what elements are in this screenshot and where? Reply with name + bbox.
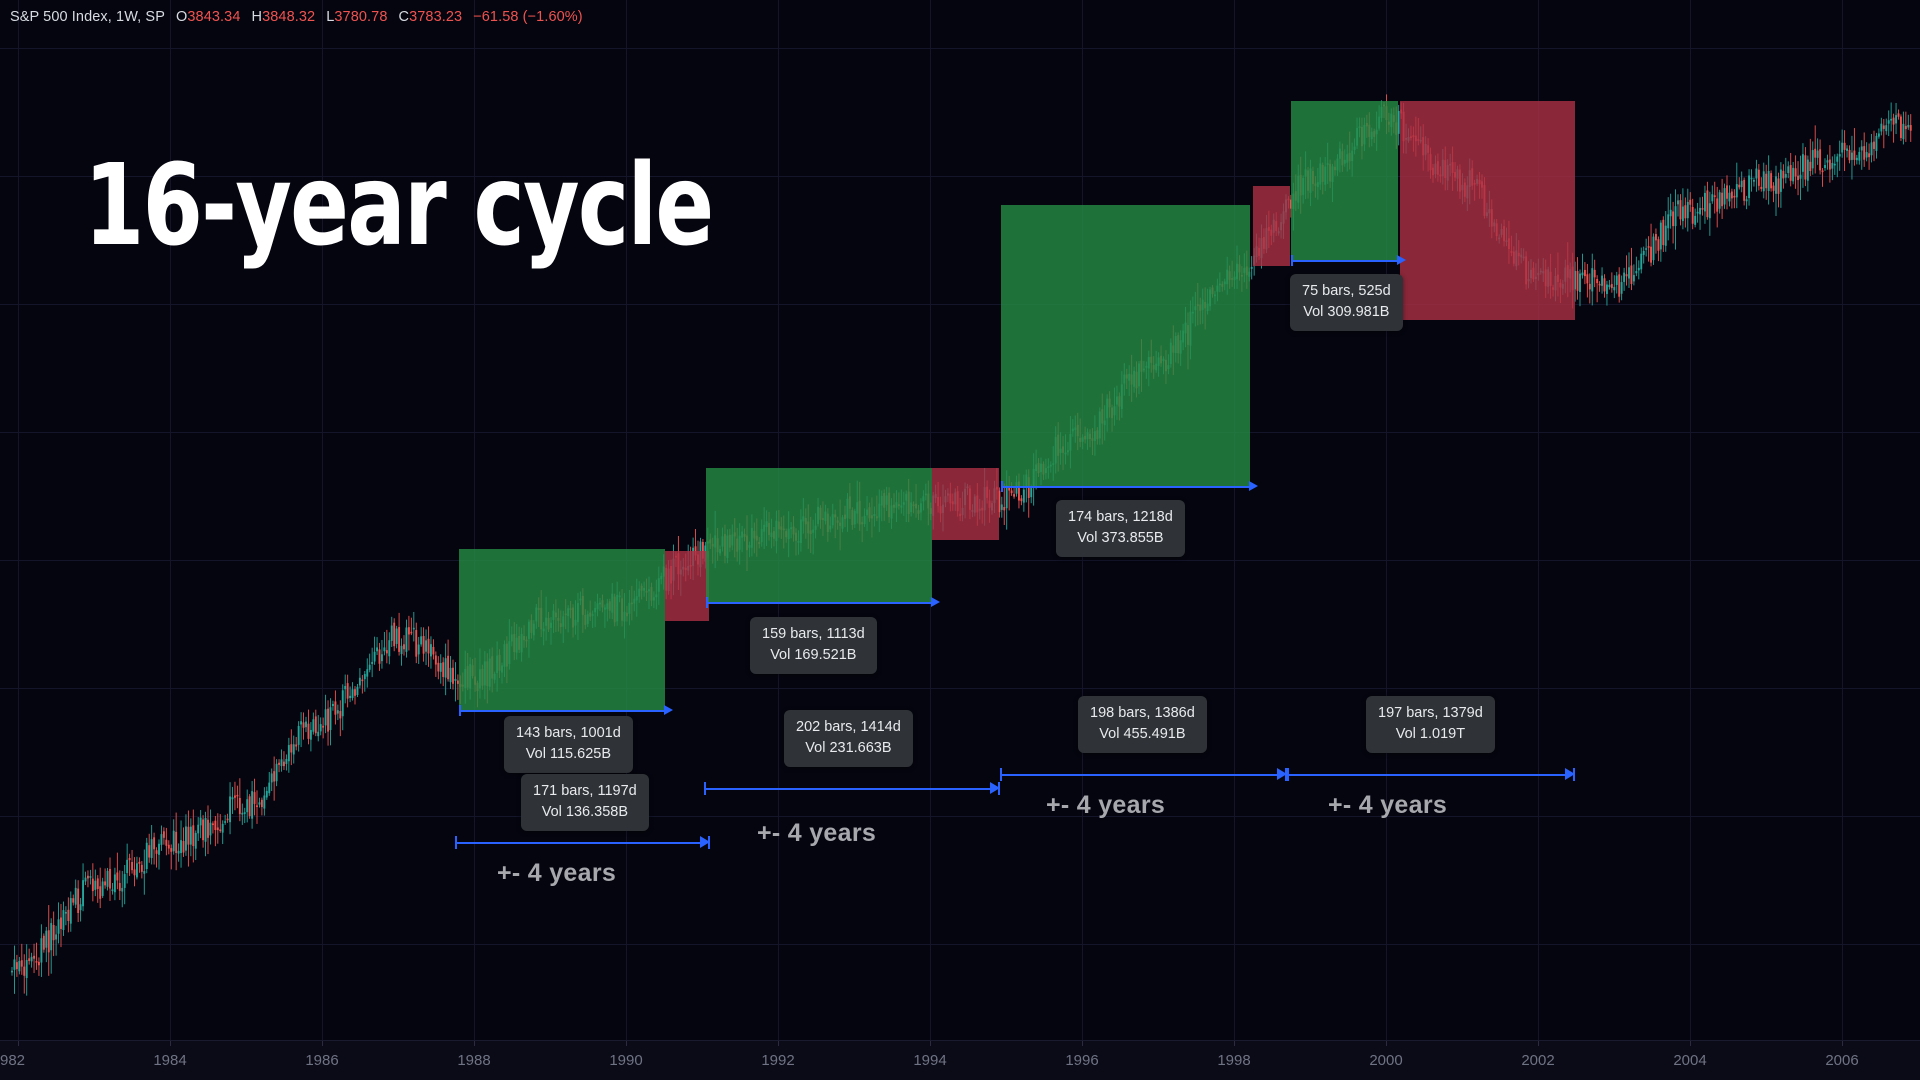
measure-zone-down[interactable] (665, 551, 709, 621)
measure-arrow-head (931, 597, 940, 607)
cycle-arrow-cap-right (998, 782, 1000, 795)
cycle-arrow-cap-right (1573, 768, 1575, 781)
time-axis-tickmark (626, 1041, 627, 1046)
measure-zone-up[interactable] (1291, 101, 1398, 262)
measure-volume: Vol 136.358B (533, 802, 637, 823)
time-axis-tickmark (170, 1041, 171, 1046)
measure-volume: Vol 115.625B (516, 744, 621, 765)
cycle-span-label: +- 4 years (1046, 791, 1165, 819)
time-axis-tick: 1990 (609, 1052, 642, 1069)
cycle-span-label: +- 4 years (497, 859, 616, 887)
time-axis-tick: 1994 (913, 1052, 946, 1069)
measure-bars: 159 bars, 1113d (762, 624, 865, 645)
measure-zone-down[interactable] (932, 468, 999, 540)
chart-stage: 143 bars, 1001d Vol 115.625B 171 bars, 1… (0, 0, 1920, 1080)
measure-tooltip[interactable]: 198 bars, 1386d Vol 455.491B (1078, 696, 1207, 753)
measure-arrow-line (706, 602, 934, 604)
measure-arrow-line (1001, 486, 1252, 488)
measure-tooltip[interactable]: 159 bars, 1113d Vol 169.521B (750, 617, 877, 674)
time-axis-tick: 2006 (1825, 1052, 1858, 1069)
legend-high-label: H (252, 9, 263, 25)
measure-bars: 197 bars, 1379d (1378, 703, 1483, 724)
time-axis-tickmark (930, 1041, 931, 1046)
measure-tooltip[interactable]: 143 bars, 1001d Vol 115.625B (504, 716, 633, 773)
cycle-span-arrow[interactable] (1287, 768, 1575, 781)
time-axis-tickmark (18, 1041, 19, 1046)
measure-zone-down[interactable] (1400, 101, 1575, 320)
measure-tooltip[interactable]: 197 bars, 1379d Vol 1.019T (1366, 696, 1495, 753)
measure-arrow-line (1291, 260, 1400, 262)
legend-close-label: C (399, 9, 410, 25)
time-axis-tickmark (1842, 1041, 1843, 1046)
measure-tooltip[interactable]: 174 bars, 1218d Vol 373.855B (1056, 500, 1185, 557)
measure-zone-up[interactable] (1001, 205, 1250, 488)
measure-arrow[interactable] (1001, 481, 1258, 492)
measure-arrow-head (1249, 481, 1258, 491)
measure-volume: Vol 373.855B (1068, 528, 1173, 549)
cycle-span-label: +- 4 years (757, 819, 876, 847)
measure-bars: 143 bars, 1001d (516, 723, 621, 744)
legend-low-value: 3780.78 (334, 9, 387, 25)
time-axis-tick: 2004 (1673, 1052, 1706, 1069)
measure-tooltip[interactable]: 75 bars, 525d Vol 309.981B (1290, 274, 1403, 331)
time-axis-tick: 2000 (1369, 1052, 1402, 1069)
time-axis-tickmark (1690, 1041, 1691, 1046)
measure-arrow-line (459, 710, 667, 712)
measure-volume: Vol 231.663B (796, 738, 901, 759)
measure-zone-up[interactable] (459, 549, 665, 712)
annotation-title: 16-year cycle (84, 150, 713, 262)
measure-zone-down[interactable] (1253, 186, 1290, 266)
legend-open-label: O (176, 9, 187, 25)
time-axis-tickmark (1386, 1041, 1387, 1046)
measure-bars: 174 bars, 1218d (1068, 507, 1173, 528)
measure-volume: Vol 455.491B (1090, 724, 1195, 745)
time-axis-tickmark (474, 1041, 475, 1046)
legend-change: −61.58 (−1.60%) (473, 9, 583, 25)
time-axis-tickmark (778, 1041, 779, 1046)
measure-volume: Vol 169.521B (762, 645, 865, 666)
cycle-span-arrow[interactable] (455, 836, 710, 849)
cycle-span-arrow[interactable] (704, 782, 1000, 795)
cycle-arrow-cap-right (708, 836, 710, 849)
legend-symbol[interactable]: S&P 500 Index, 1W, SP (10, 9, 165, 25)
cycle-span-label: +- 4 years (1328, 791, 1447, 819)
measure-volume: Vol 1.019T (1378, 724, 1483, 745)
time-axis-tickmark (1234, 1041, 1235, 1046)
time-axis-tickmark (322, 1041, 323, 1046)
measure-bars: 171 bars, 1197d (533, 781, 637, 802)
measure-zone-up[interactable] (706, 468, 932, 604)
time-axis-tick: 1986 (305, 1052, 338, 1069)
time-axis[interactable]: 9821984198619881990199219941996199820002… (0, 1040, 1920, 1080)
legend-open-value: 3843.34 (187, 9, 240, 25)
cycle-arrow-line (704, 788, 993, 790)
measure-tooltip[interactable]: 202 bars, 1414d Vol 231.663B (784, 710, 913, 767)
measure-arrow[interactable] (1291, 255, 1406, 266)
measure-arrow[interactable] (459, 705, 673, 716)
cycle-arrow-line (1287, 774, 1568, 776)
time-axis-tick: 1992 (761, 1052, 794, 1069)
time-axis-tickmark (1538, 1041, 1539, 1046)
time-axis-tick: 1998 (1217, 1052, 1250, 1069)
time-axis-tick: 1984 (153, 1052, 186, 1069)
measure-bars: 198 bars, 1386d (1090, 703, 1195, 724)
measure-arrow[interactable] (706, 597, 940, 608)
time-axis-tick: 2002 (1521, 1052, 1554, 1069)
measure-volume: Vol 309.981B (1302, 302, 1391, 323)
time-axis-tickmark (1082, 1041, 1083, 1046)
measure-arrow-head (664, 705, 673, 715)
legend-close-value: 3783.23 (409, 9, 462, 25)
time-axis-tick: 1996 (1065, 1052, 1098, 1069)
measure-tooltip[interactable]: 171 bars, 1197d Vol 136.358B (521, 774, 649, 831)
measure-bars: 202 bars, 1414d (796, 717, 901, 738)
measure-arrow-head (1397, 255, 1406, 265)
legend-high-value: 3848.32 (262, 9, 315, 25)
cycle-arrow-line (1000, 774, 1280, 776)
cycle-arrow-line (455, 842, 703, 844)
cycle-span-arrow[interactable] (1000, 768, 1287, 781)
time-axis-tick: 1988 (457, 1052, 490, 1069)
time-axis-tick: 982 (0, 1052, 25, 1069)
measure-bars: 75 bars, 525d (1302, 281, 1391, 302)
chart-legend[interactable]: S&P 500 Index, 1W, SPO3843.34H3848.32L37… (10, 9, 583, 25)
